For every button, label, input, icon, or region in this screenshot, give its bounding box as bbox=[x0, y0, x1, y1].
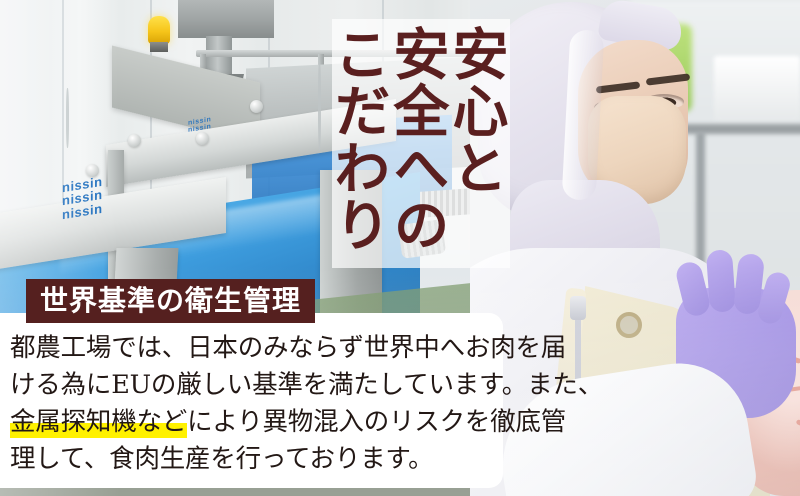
overhead-hopper bbox=[178, 0, 274, 38]
body-line-3-rest: により異物混入のリスクを徹底管 bbox=[187, 407, 566, 437]
adjust-knob bbox=[128, 134, 141, 147]
adjust-knob bbox=[250, 100, 263, 113]
headline-column-2: 安全への bbox=[388, 25, 445, 268]
beacon-base bbox=[150, 42, 168, 52]
apron-grommet bbox=[616, 312, 642, 338]
cable bbox=[318, 60, 321, 150]
headline-box: 安心と 安全への こだわり bbox=[332, 19, 510, 268]
meat-streak bbox=[796, 419, 800, 446]
background-papers bbox=[714, 56, 800, 122]
headline-column-3: こだわり bbox=[329, 25, 386, 268]
brand-logo-nissin: nissin nissin nissin bbox=[62, 175, 103, 221]
adjust-knob bbox=[196, 132, 209, 145]
body-line-3: 金属探知機などにより異物混入のリスクを徹底管 bbox=[10, 404, 496, 441]
hero-banner: nissin nissin nissin nissin nissin bbox=[0, 0, 800, 496]
body-line-4: 理して、食肉生産を行っております。 bbox=[10, 441, 496, 478]
glove-finger bbox=[706, 249, 736, 313]
section-heading-banner: 世界基準の衛生管理 bbox=[26, 279, 315, 323]
headline-column-1: 安心と bbox=[447, 25, 504, 268]
cable bbox=[66, 88, 69, 148]
body-line-2: ける為にEUの厳しい基準を満たしています。また、 bbox=[10, 367, 496, 404]
body-line-1: 都農工場では、日本のみならず世界中へお肉を届 bbox=[10, 330, 496, 367]
background-shelf-leg bbox=[696, 132, 705, 272]
highlighted-phrase: 金属探知機など bbox=[10, 407, 187, 438]
warning-beacon-icon bbox=[148, 16, 170, 44]
zipper-pull bbox=[570, 296, 586, 320]
body-paragraph: 都農工場では、日本のみならず世界中へお肉を届 ける為にEUの厳しい基準を満たして… bbox=[10, 330, 496, 478]
section-heading-text: 世界基準の衛生管理 bbox=[40, 287, 301, 315]
